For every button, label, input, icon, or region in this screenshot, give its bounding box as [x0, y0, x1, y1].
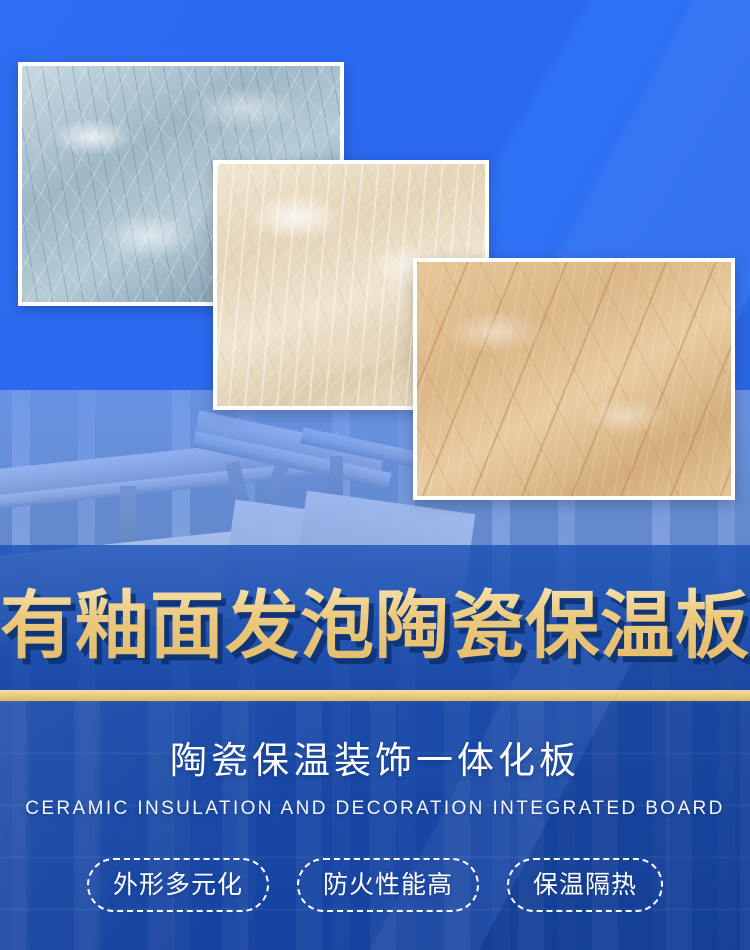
gold-divider — [0, 690, 750, 701]
subtitle-chinese: 陶瓷保温装饰一体化板 — [0, 738, 750, 784]
product-banner: 有釉面发泡陶瓷保温板 陶瓷保温装饰一体化板 CERAMIC INSULATION… — [0, 0, 750, 950]
headline: 有釉面发泡陶瓷保温板 — [0, 583, 750, 669]
feature-badge-thermal-insulation: 保温隔热 — [507, 858, 663, 912]
feature-badge-shape-diversity: 外形多元化 — [87, 858, 269, 912]
sample-tile-tan-marble — [413, 258, 735, 500]
subtitle-english: CERAMIC INSULATION AND DECORATION INTEGR… — [0, 797, 750, 821]
feature-badge-list: 外形多元化 防火性能高 保温隔热 — [0, 858, 750, 912]
tan-marble-texture — [417, 262, 731, 496]
feature-badge-fire-resistance: 防火性能高 — [297, 858, 479, 912]
